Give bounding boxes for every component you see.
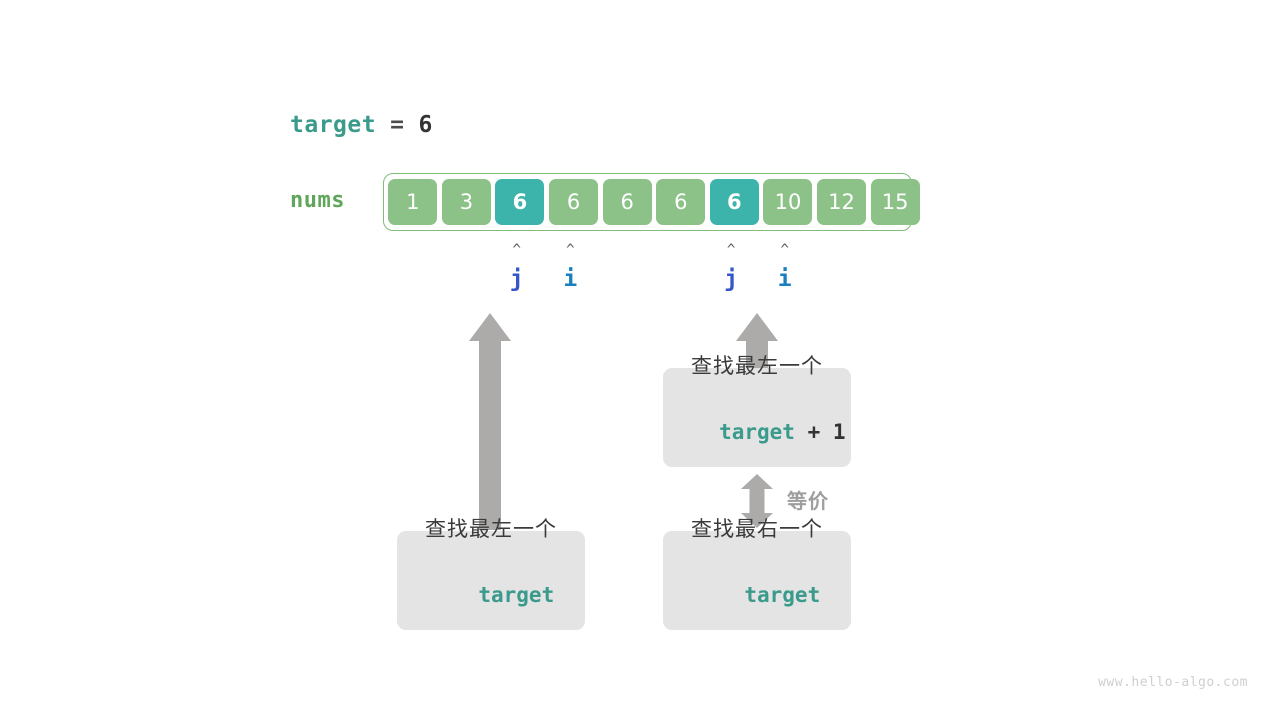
box-find-leftmost-target: 查找最左一个 target: [397, 531, 585, 630]
equivalence-label: 等价: [787, 485, 829, 514]
box-find-rightmost-target: 查找最右一个 target: [663, 531, 851, 630]
target-value: 6: [418, 112, 432, 138]
box-line-1: 查找最右一个: [691, 514, 823, 546]
pointer-label-j: j: [718, 266, 744, 292]
box-keyword-target: target: [744, 583, 820, 607]
box-keyword-target: target: [478, 583, 554, 607]
watermark: www.hello-algo.com: [1098, 675, 1248, 690]
array-cell: 15: [871, 179, 920, 225]
box-line-2: target + 1: [668, 383, 845, 484]
diagram-canvas: { "header": { "target_keyword": "target"…: [0, 0, 1280, 720]
target-declaration: target = 6: [290, 112, 433, 138]
double-arrow-shaft: [750, 488, 765, 514]
pointer-caret-icon: ^: [721, 242, 741, 258]
array-cell: 10: [763, 179, 812, 225]
arrow-head-icon: [469, 313, 511, 341]
pointer-caret-icon: ^: [560, 242, 580, 258]
array-cell: 6: [710, 179, 759, 225]
array-cell: 6: [549, 179, 598, 225]
array-cell: 1: [388, 179, 437, 225]
pointer-caret-icon: ^: [775, 242, 795, 258]
array-label: nums: [290, 188, 345, 213]
array-container: 1366666101215: [383, 173, 912, 231]
arrow-shaft: [479, 340, 501, 530]
target-keyword: target: [290, 112, 376, 138]
arrow-head-icon: [736, 313, 778, 341]
pointer-caret-icon: ^: [507, 242, 527, 258]
box-line-1: 查找最左一个: [425, 514, 557, 546]
array-cell: 6: [656, 179, 705, 225]
pointer-label-i: i: [772, 266, 798, 292]
array-cell: 6: [603, 179, 652, 225]
pointer-label-i: i: [557, 266, 583, 292]
box-suffix: + 1: [795, 420, 846, 444]
box-find-leftmost-target-plus-one: 查找最左一个 target + 1: [663, 368, 851, 467]
equals-sign: =: [390, 112, 404, 138]
box-line-2: target: [428, 546, 554, 647]
box-line-2: target: [694, 546, 820, 647]
array-cell: 6: [495, 179, 544, 225]
pointer-label-j: j: [504, 266, 530, 292]
array-cell: 3: [442, 179, 491, 225]
array-cell: 12: [817, 179, 866, 225]
box-line-1: 查找最左一个: [691, 351, 823, 383]
arrow-leftmost-target: [469, 313, 511, 530]
box-keyword-target: target: [719, 420, 795, 444]
